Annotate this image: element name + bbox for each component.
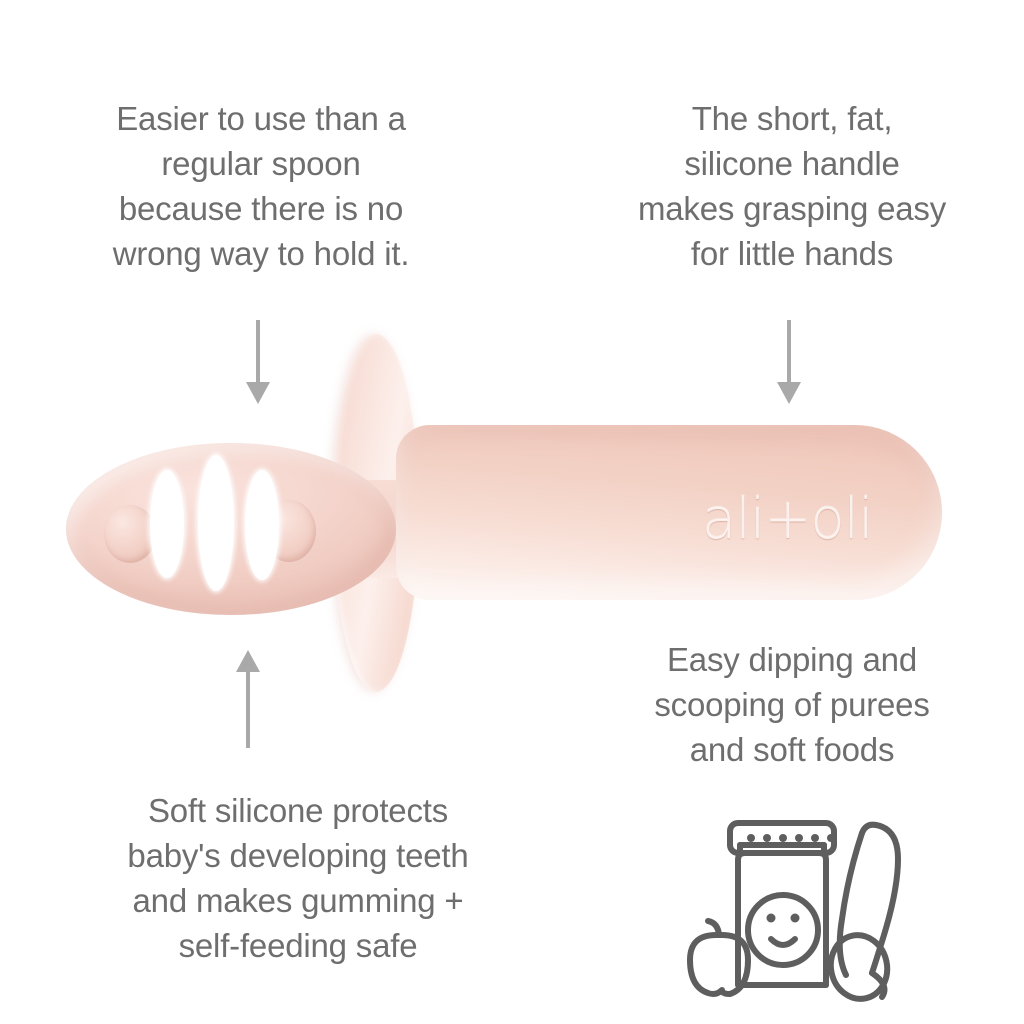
spoon-bowl-bump-right	[262, 500, 316, 562]
smiley-mouth	[771, 939, 795, 945]
spoon-bowl	[66, 443, 396, 615]
smiley-face-circle	[748, 895, 818, 965]
spoon-handle-left	[840, 833, 862, 975]
caption-top-left: Easier to use than a regular spoon becau…	[46, 96, 476, 276]
arrow-head	[777, 382, 801, 404]
arrow-down-icon-top-left	[241, 320, 275, 410]
arrow-up-icon-bottom-left	[231, 650, 265, 750]
spoon-neck	[330, 480, 420, 578]
arrow-head	[246, 382, 270, 404]
spoon-bowl-slot	[150, 470, 184, 578]
spoon-bowl-bump-left	[104, 505, 156, 563]
spoon-bowl-slot	[245, 470, 279, 580]
spoon-shield-disc	[333, 334, 419, 692]
caption-bottom-right: Easy dipping and scooping of purees and …	[592, 637, 992, 772]
arrow-shaft	[256, 320, 260, 386]
arrow-shaft	[246, 672, 250, 748]
brand-logo-ali-oli: ali+oli	[702, 487, 908, 553]
infographic-page: ali+oli Easier to use than a regular spo…	[0, 0, 1024, 1024]
jar-lid-dots	[747, 834, 835, 842]
caption-bottom-left: Soft silicone protects baby's developing…	[48, 788, 548, 968]
arrow-down-icon-top-right	[772, 320, 806, 410]
spoon-tip	[862, 825, 876, 833]
spoon-handle	[396, 425, 942, 600]
arrow-shaft	[787, 320, 791, 386]
smiley-eyes	[767, 914, 800, 923]
baby-food-jar-apple-spoon-icon	[676, 815, 916, 1005]
caption-top-right: The short, fat, silicone handle makes gr…	[577, 96, 1007, 276]
spoon-bowl-slot	[198, 455, 234, 591]
arrow-head	[236, 650, 260, 672]
